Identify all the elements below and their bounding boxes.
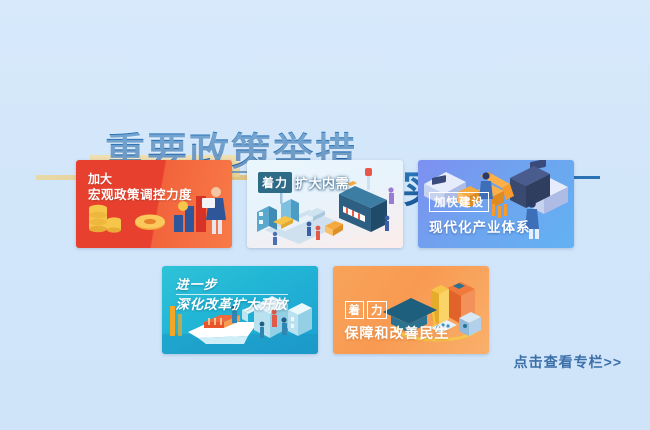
- card-label-expand-demand: 着力 扩大内需: [258, 172, 349, 193]
- policy-card-macro-policy[interactable]: 加大 宏观政策调控力度: [76, 160, 232, 248]
- card-badge-char-2: 力: [367, 301, 387, 319]
- card-line1: 加快建设: [429, 192, 489, 212]
- policy-card-modern-industry[interactable]: 加快建设 现代化产业体系: [418, 160, 574, 248]
- card-label-macro-policy: 加大 宏观政策调控力度: [88, 171, 192, 203]
- card-line2: 现代化产业体系: [429, 216, 531, 236]
- policy-card-livelihood[interactable]: 着 力 保障和改善民生: [333, 266, 489, 354]
- card-badge: 着力: [258, 172, 292, 193]
- card-row-bottom: 进一步 深化改革扩大开放: [0, 266, 650, 354]
- card-label-livelihood: 着 力 保障和改善民生: [345, 301, 450, 343]
- policy-card-deepen-reform[interactable]: 进一步 深化改革扩大开放: [162, 266, 318, 354]
- card-line2: 保障和改善民生: [345, 323, 450, 343]
- policy-card-expand-demand[interactable]: 着力 扩大内需: [247, 160, 403, 248]
- card-label-deepen-reform: 进一步 深化改革扩大开放: [176, 276, 288, 314]
- card-label-modern-industry: 加快建设 现代化产业体系: [429, 192, 531, 236]
- card-badge-char-1: 着: [345, 301, 365, 319]
- card-line2: 深化改革扩大开放: [176, 294, 288, 314]
- policy-card-grid: 加大 宏观政策调控力度: [0, 152, 650, 352]
- card-line2: 宏观政策调控力度: [88, 187, 192, 203]
- card-badge-group: 着 力: [345, 301, 450, 319]
- policy-banner: 重要政策举措 及实施效果: [0, 0, 650, 430]
- card-row-top: 加大 宏观政策调控力度: [0, 160, 650, 248]
- view-column-link[interactable]: 点击查看专栏>>: [514, 352, 622, 372]
- card-line1: 进一步: [176, 276, 288, 294]
- banner-header: 重要政策举措 及实施效果: [0, 58, 650, 153]
- card-line1: 加大: [88, 171, 192, 187]
- card-line2: 扩大内需: [295, 173, 349, 192]
